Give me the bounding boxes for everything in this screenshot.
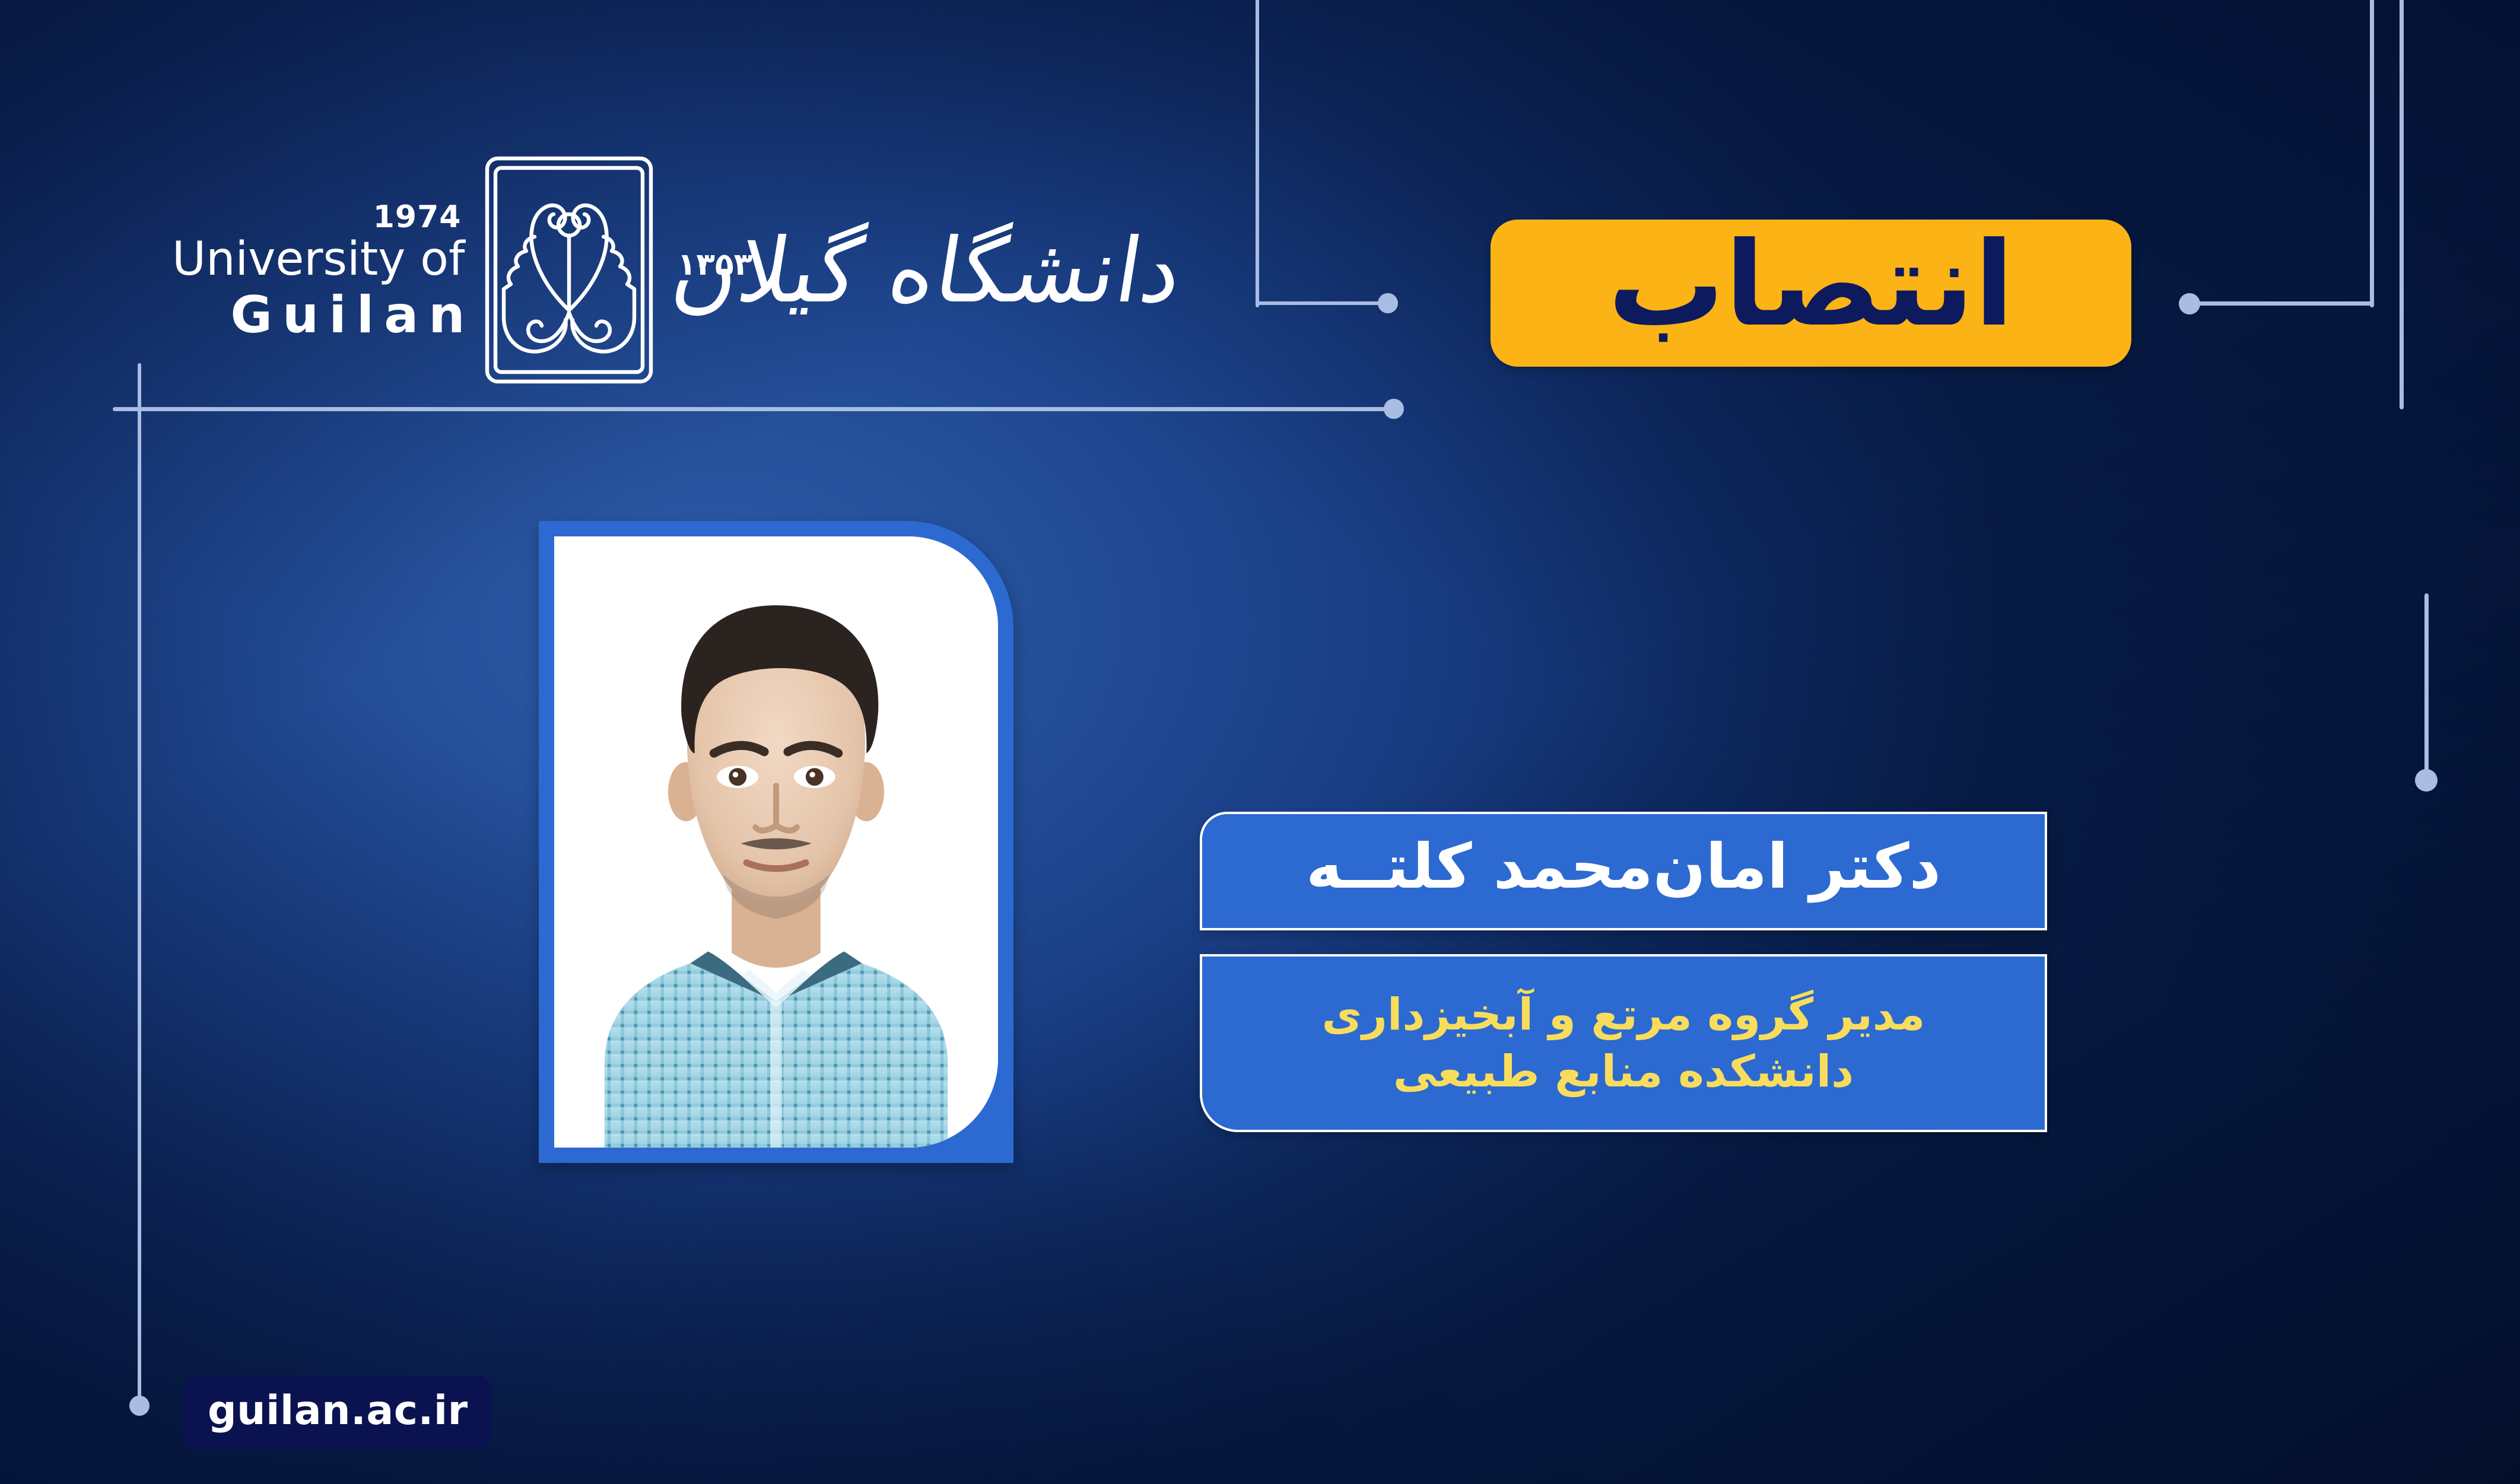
decor-line-left-vertical xyxy=(138,363,141,1405)
person-name-card: دکتر امان‌محمد کلتــه xyxy=(1200,812,2047,930)
decor-line-logo-underline xyxy=(113,407,1394,411)
person-name: دکتر امان‌محمد کلتــه xyxy=(1306,835,1941,897)
decor-line-right-inner-horizontal xyxy=(2194,301,2372,306)
logo-year-english: 1974 xyxy=(373,202,462,233)
decor-line-right-inner-vertical xyxy=(2370,0,2374,307)
appointment-poster: 1974 University of Guilan xyxy=(0,0,2520,1484)
decor-line-right-mid-vertical xyxy=(2424,593,2429,778)
appointment-badge-label: انتصاب xyxy=(1608,227,2014,343)
decor-dot-right-inner xyxy=(2179,293,2200,314)
website-pill[interactable]: guilan.ac.ir xyxy=(184,1375,492,1450)
portrait-frame xyxy=(539,521,1013,1163)
portrait-photo xyxy=(554,536,998,1148)
decor-line-top-center-vertical xyxy=(1256,0,1259,307)
person-title-line1: مدیر گروه مرتع و آبخیزداری xyxy=(1322,986,1925,1043)
decor-line-top-center-horizontal xyxy=(1256,301,1381,305)
logo-guilan-line: Guilan xyxy=(230,290,475,341)
website-url: guilan.ac.ir xyxy=(208,1387,468,1434)
decor-dot-right-mid xyxy=(2415,769,2438,792)
person-title-card: مدیر گروه مرتع و آبخیزداری دانشکده منابع… xyxy=(1200,954,2047,1132)
decor-line-right-outer-vertical xyxy=(2400,0,2404,409)
decor-dot-left-bottom xyxy=(129,1396,150,1416)
university-logo-lockup: 1974 University of Guilan xyxy=(172,151,1253,391)
logo-persian-name: دانشگاه گیلان xyxy=(667,227,1260,316)
decor-dot-logo-underline xyxy=(1384,399,1404,419)
logo-english-text: 1974 University of Guilan xyxy=(172,202,465,341)
person-title-line2: دانشکده منابع طبیعی xyxy=(1393,1043,1854,1100)
decor-dot-top-center xyxy=(1378,293,1398,313)
logo-university-line: University of xyxy=(172,236,465,282)
university-emblem-icon xyxy=(480,151,658,391)
logo-persian-text: ۱۳۵۳ دانشگاه گیلان xyxy=(673,227,1252,316)
appointment-badge: انتصاب xyxy=(1491,220,2131,367)
